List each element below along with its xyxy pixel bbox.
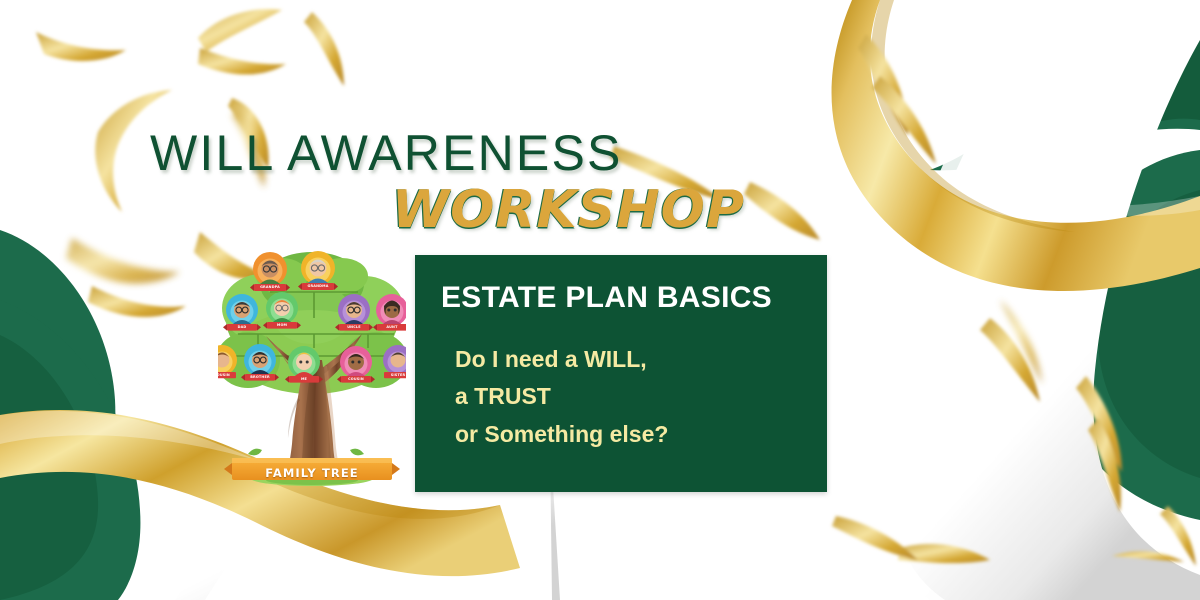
- card-line-3: or Something else?: [455, 416, 815, 453]
- family-tree-graphic: [218, 248, 406, 496]
- headline-block: WILL AWARENESS WORKSHOP: [150, 128, 770, 236]
- family-tree-illustration: GRANDPA GRANDMA DAD MOM UNCLE AUNT BROTH…: [218, 248, 406, 496]
- promotional-banner: WILL AWARENESS WORKSHOP: [0, 0, 1200, 600]
- card-line-2: a TRUST: [455, 378, 815, 415]
- estate-plan-card: ESTATE PLAN BASICS Do I need a WILL, a T…: [415, 255, 827, 492]
- headline-primary: WILL AWARENESS: [150, 128, 770, 178]
- card-line-1: Do I need a WILL,: [455, 341, 815, 378]
- card-heading: ESTATE PLAN BASICS: [441, 281, 772, 315]
- card-body: Do I need a WILL, a TRUST or Something e…: [455, 341, 815, 453]
- headline-secondary: WORKSHOP: [150, 184, 770, 236]
